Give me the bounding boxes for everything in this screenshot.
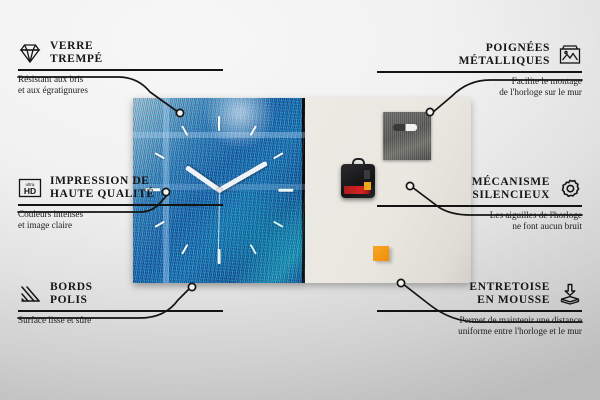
- clock-tick: [250, 244, 257, 255]
- foam-spacer-icon: [558, 282, 582, 306]
- divider: [377, 310, 582, 312]
- metallic-hanger-plate: [383, 112, 431, 160]
- callout-title: MÉCANISME SILENCIEUX: [472, 176, 550, 202]
- polished-edges-icon: [18, 282, 42, 306]
- clock-tick: [250, 125, 257, 136]
- keyhole-slot: [393, 124, 417, 131]
- mechanism-detail: [364, 170, 370, 179]
- callout-title: VERRE TREMPÉ: [50, 40, 103, 66]
- callout-mecanisme-silencieux: MÉCANISME SILENCIEUX Les aiguilles de l'…: [377, 176, 582, 232]
- ultra-hd-icon: ultra HD: [18, 176, 42, 200]
- callout-title: IMPRESSION DE HAUTE QUALITÉ: [50, 175, 155, 201]
- divider: [377, 71, 582, 73]
- callout-verre-trempe: VERRE TREMPÉ Résistant aux bris et aux é…: [18, 40, 223, 96]
- callout-desc-line1: Les aiguilles de l'horloge: [377, 210, 582, 221]
- mechanism-hanger-loop: [352, 158, 365, 167]
- divider: [18, 310, 223, 312]
- callout-title: BORDS POLIS: [50, 281, 93, 307]
- callout-desc-line2: de l'horloge sur le mur: [377, 87, 582, 98]
- callout-title: POIGNÉES MÉTALLIQUES: [459, 42, 550, 68]
- callout-header: VERRE TREMPÉ: [18, 40, 223, 66]
- callout-desc-line2: uniforme entre l'horloge et le mur: [377, 326, 582, 337]
- clock-tick: [218, 249, 221, 264]
- callout-desc-line2: ne font aucun bruit: [377, 221, 582, 232]
- clock-tick: [278, 189, 293, 192]
- clock-tick: [218, 116, 221, 131]
- clock-tick: [181, 244, 188, 255]
- callout-header: ultra HD IMPRESSION DE HAUTE QUALITÉ: [18, 175, 223, 201]
- clock-tick: [273, 221, 284, 228]
- callout-poignees-metalliques: POIGNÉES MÉTALLIQUES Facilite le montage…: [377, 42, 582, 98]
- foam-spacer: [373, 246, 389, 261]
- callout-desc-line1: Résistant aux bris: [18, 74, 223, 85]
- callout-header: ENTRETOISE EN MOUSSE: [377, 281, 582, 307]
- callout-desc-line1: Surface lisse et sûre: [18, 315, 223, 326]
- diamond-icon: [18, 41, 42, 65]
- callout-impression-haute-qualite: ultra HD IMPRESSION DE HAUTE QUALITÉ Cou…: [18, 175, 223, 231]
- callout-desc-line1: Facilite le montage: [377, 76, 582, 87]
- gear-icon: [558, 177, 582, 201]
- divider: [18, 69, 223, 71]
- divider: [377, 205, 582, 207]
- callout-header: POIGNÉES MÉTALLIQUES: [377, 42, 582, 68]
- callout-title: ENTRETOISE EN MOUSSE: [469, 281, 550, 307]
- callout-header: BORDS POLIS: [18, 281, 223, 307]
- divider: [18, 204, 223, 206]
- clock-mechanism: [341, 164, 375, 198]
- clock-tick: [154, 152, 165, 159]
- callout-desc-line1: Permet de maintenir une distance: [377, 315, 582, 326]
- svg-text:HD: HD: [24, 186, 36, 196]
- callout-desc-line1: Couleurs intenses: [18, 209, 223, 220]
- battery-terminal: [364, 182, 371, 190]
- callout-header: MÉCANISME SILENCIEUX: [377, 176, 582, 202]
- clock-tick: [181, 125, 188, 136]
- callout-bords-polis: BORDS POLIS Surface lisse et sûre: [18, 281, 223, 326]
- callout-entretoise-en-mousse: ENTRETOISE EN MOUSSE Permet de maintenir…: [377, 281, 582, 337]
- clock-tick: [273, 152, 284, 159]
- callout-desc-line2: et image claire: [18, 220, 223, 231]
- battery: [344, 186, 370, 194]
- callout-desc-line2: et aux égratignures: [18, 85, 223, 96]
- minute-hand: [218, 160, 268, 191]
- picture-frame-icon: [558, 43, 582, 67]
